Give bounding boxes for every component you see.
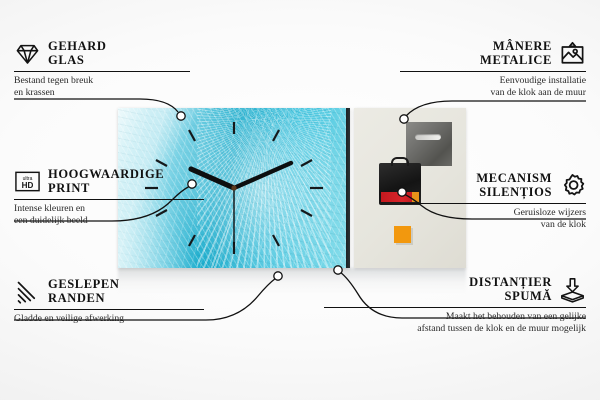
feature-desc: Geruisloze wijzers van de klok: [400, 207, 586, 230]
svg-text:HD: HD: [22, 181, 34, 190]
feature-polished-edges[interactable]: GESLEPEN RANDEN Gladde en veilige afwerk…: [14, 278, 204, 325]
infographic-canvas: GEHARD GLAS Bestand tegen breuk en krass…: [0, 0, 600, 400]
feature-title: HOOGWAARDIGE PRINT: [48, 168, 164, 195]
feature-rule: [14, 199, 204, 200]
feature-desc: Bestand tegen breuk en krassen: [14, 75, 190, 98]
feature-rule: [400, 203, 586, 204]
feature-rule: [400, 71, 586, 72]
feature-desc: Maakt het behouden van een gelijke afsta…: [324, 311, 586, 334]
feature-title: MECANISM SILENȚIOS: [476, 172, 552, 199]
ultra-hd-icon: ultra HD: [14, 168, 41, 195]
feature-rule: [14, 309, 204, 310]
feature-desc: Intense kleuren en een duidelijk beeld: [14, 203, 204, 226]
feature-title: MÂNERE METALICE: [480, 40, 552, 67]
feature-foam-spacer[interactable]: DISTANȚIER SPUMĂ Maakt het behouden van …: [324, 276, 586, 334]
feature-title: GESLEPEN RANDEN: [48, 278, 120, 305]
framed-picture-icon: [559, 40, 586, 67]
feature-tempered-glass[interactable]: GEHARD GLAS Bestand tegen breuk en krass…: [14, 40, 190, 98]
feature-silent-mechanism[interactable]: MECANISM SILENȚIOS Geruisloze wijzers va…: [400, 172, 586, 230]
feature-rule: [14, 71, 190, 72]
leader-dot-tempered-glass: [177, 112, 185, 120]
beveled-edges-icon: [14, 278, 41, 305]
feature-rule: [324, 307, 586, 308]
leader-dot-spacer: [334, 266, 342, 274]
feature-title: GEHARD GLAS: [48, 40, 106, 67]
spacer-arrow-icon: [559, 276, 586, 303]
feature-high-quality-print[interactable]: ultra HD HOOGWAARDIGE PRINT Intense kleu…: [14, 168, 204, 226]
leader-dot-handles: [400, 115, 408, 123]
feature-title: DISTANȚIER SPUMĂ: [469, 276, 552, 303]
leader-dot-edges: [274, 272, 282, 280]
feature-metal-handles[interactable]: MÂNERE METALICE Eenvoudige installatie v…: [400, 40, 586, 98]
feature-desc: Gladde en veilige afwerking: [14, 313, 204, 325]
gear-icon: [559, 172, 586, 199]
feature-desc: Eenvoudige installatie van de klok aan d…: [400, 75, 586, 98]
diamond-icon: [14, 40, 41, 67]
